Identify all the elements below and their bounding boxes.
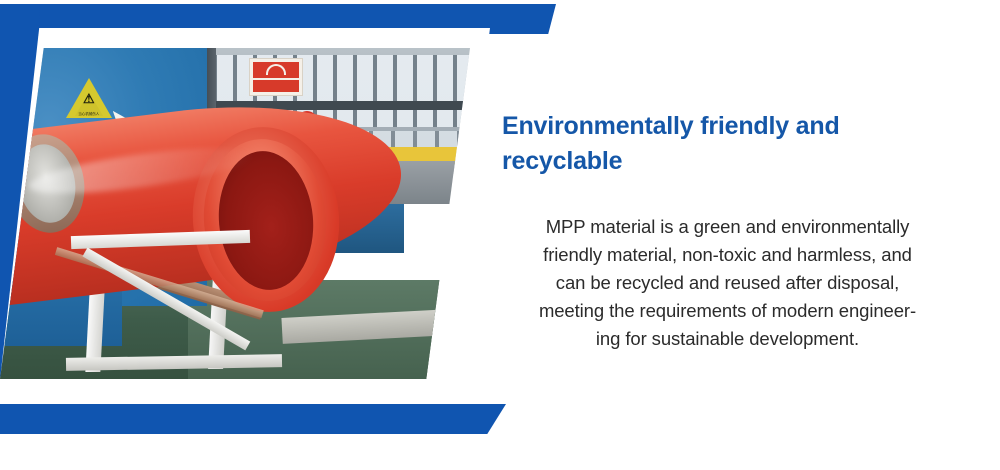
headline: Environmentally friendly and recyclable <box>502 109 902 180</box>
photo-scene: ⚠ 当心机械伤人 <box>0 48 470 379</box>
promo-banner: ⚠ 当心机械伤人 <box>0 0 1000 470</box>
warning-triangle-icon: ⚠ 当心机械伤人 <box>66 78 112 118</box>
product-photo: ⚠ 当心机械伤人 <box>0 48 470 379</box>
body-line-5: ing for sustainable development. <box>475 325 980 353</box>
body-line-4: meeting the requirements of modern engin… <box>475 297 980 325</box>
warning-glyph: ⚠ <box>83 91 95 107</box>
fire-safety-sign <box>249 58 303 96</box>
bottom-accent-bar <box>0 404 506 434</box>
text-column: Environmentally friendly and recyclable … <box>470 0 1000 470</box>
body-line-2: friendly material, non-toxic and harmles… <box>475 241 980 269</box>
body-line-1: MPP material is a green and environmenta… <box>475 213 980 241</box>
warning-sign-text: 当心机械伤人 <box>78 112 99 117</box>
headline-line-2: recyclable <box>502 144 902 180</box>
headline-line-1: Environmentally friendly and <box>502 109 902 145</box>
body-copy: MPP material is a green and environmenta… <box>475 213 980 354</box>
body-line-3: can be recycled and reused after disposa… <box>475 269 980 297</box>
